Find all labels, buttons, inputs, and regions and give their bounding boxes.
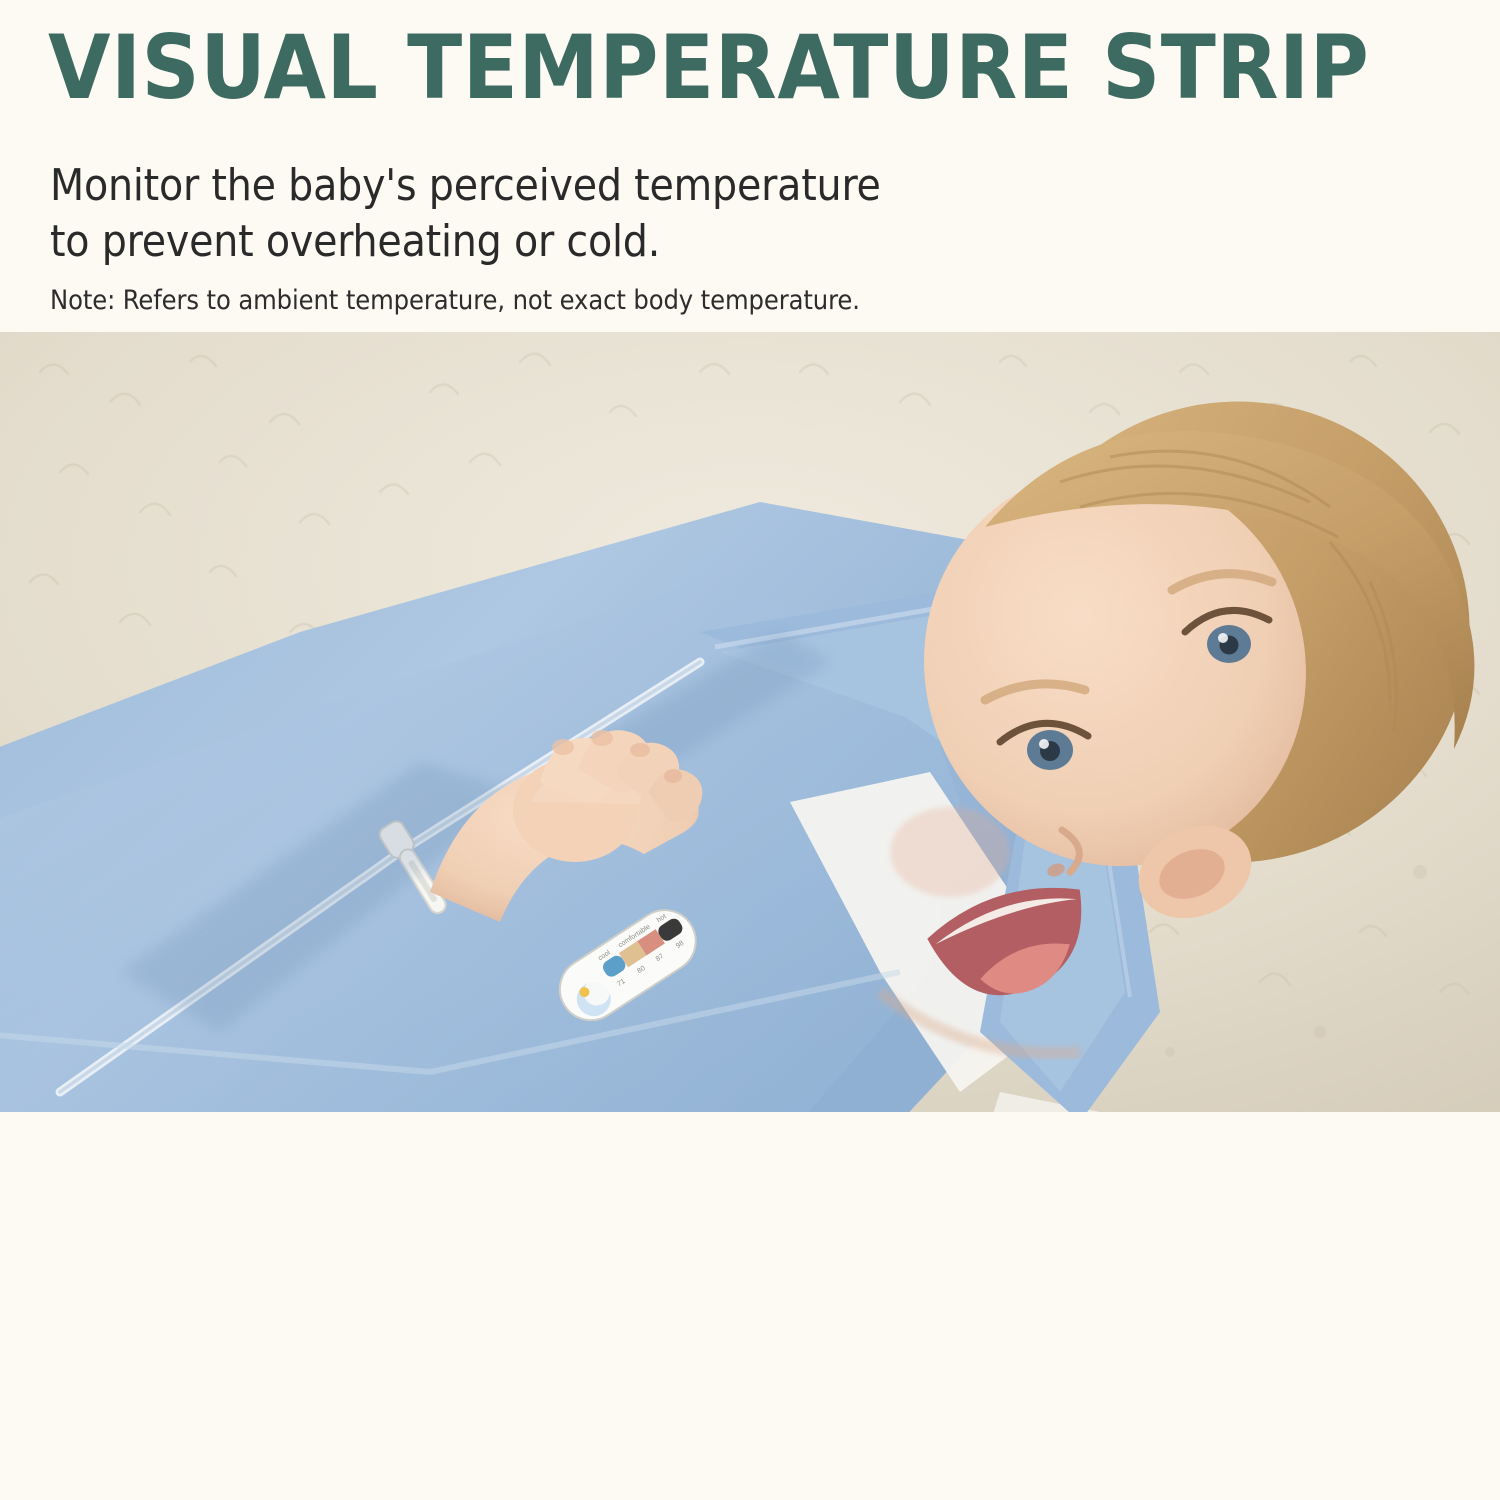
subtitle-line-2: to prevent overheating or cold. <box>50 214 881 270</box>
baby-photo-illustration: cool comfortable hot 71 80 87 98 <box>0 332 1500 1112</box>
legend-section: BLUE LIGHT/DARK YELLOW RED cool comforta… <box>0 1112 1500 1500</box>
header-section: VISUAL TEMPERATURE STRIP Monitor the bab… <box>0 0 1500 332</box>
hero-photo: cool comfortable hot 71 80 87 98 <box>0 332 1500 1112</box>
subtitle-line-1: Monitor the baby's perceived temperature <box>50 158 881 214</box>
page-note: Note: Refers to ambient temperature, not… <box>50 285 860 316</box>
page-subtitle: Monitor the baby's perceived temperature… <box>50 158 881 271</box>
page-title: VISUAL TEMPERATURE STRIP <box>48 22 1369 114</box>
